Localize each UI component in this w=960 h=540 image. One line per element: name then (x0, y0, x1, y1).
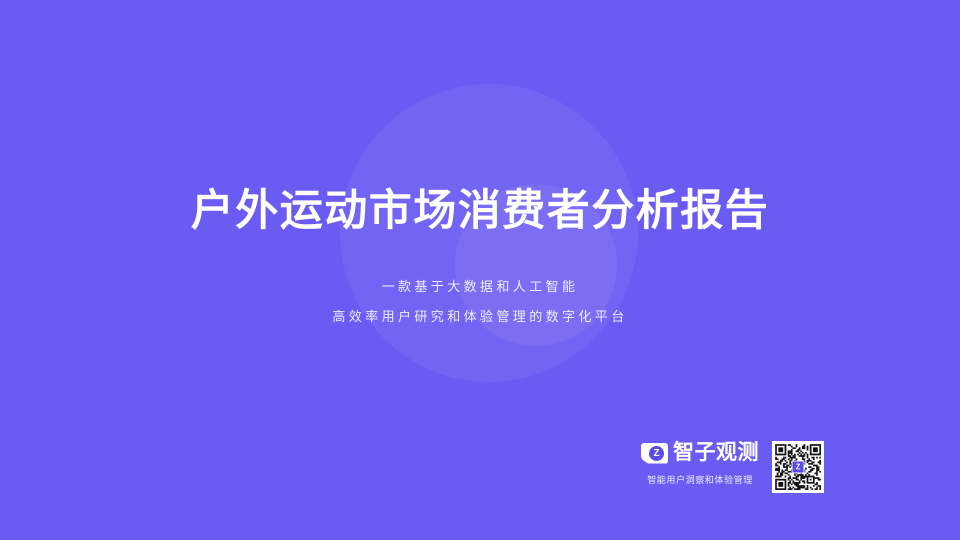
subtitle-block: 一款基于大数据和人工智能 高效率用户研究和体验管理的数字化平台 (0, 272, 960, 332)
brand-mark-letter: Z (649, 446, 664, 461)
qr-code[interactable] (772, 441, 824, 493)
subtitle-line-1: 一款基于大数据和人工智能 (0, 272, 960, 302)
page-title: 户外运动市场消费者分析报告 (0, 182, 960, 240)
brand-name: 智子观测 (673, 441, 759, 465)
subtitle-line-2: 高效率用户研究和体验管理的数字化平台 (0, 302, 960, 332)
qr-code-image (772, 441, 824, 493)
brand-tagline: 智能用户洞察和体验管理 (636, 474, 764, 486)
footer-branding: Z 智子观测 智能用户洞察和体验管理 (636, 438, 836, 498)
brand-block: Z 智子观测 智能用户洞察和体验管理 (636, 438, 764, 486)
title-slide: 户外运动市场消费者分析报告 一款基于大数据和人工智能 高效率用户研究和体验管理的… (0, 0, 960, 540)
title-block: 户外运动市场消费者分析报告 (0, 182, 960, 240)
brand-logo-icon: Z (641, 443, 668, 464)
brand-lockup: Z 智子观测 (636, 438, 764, 468)
